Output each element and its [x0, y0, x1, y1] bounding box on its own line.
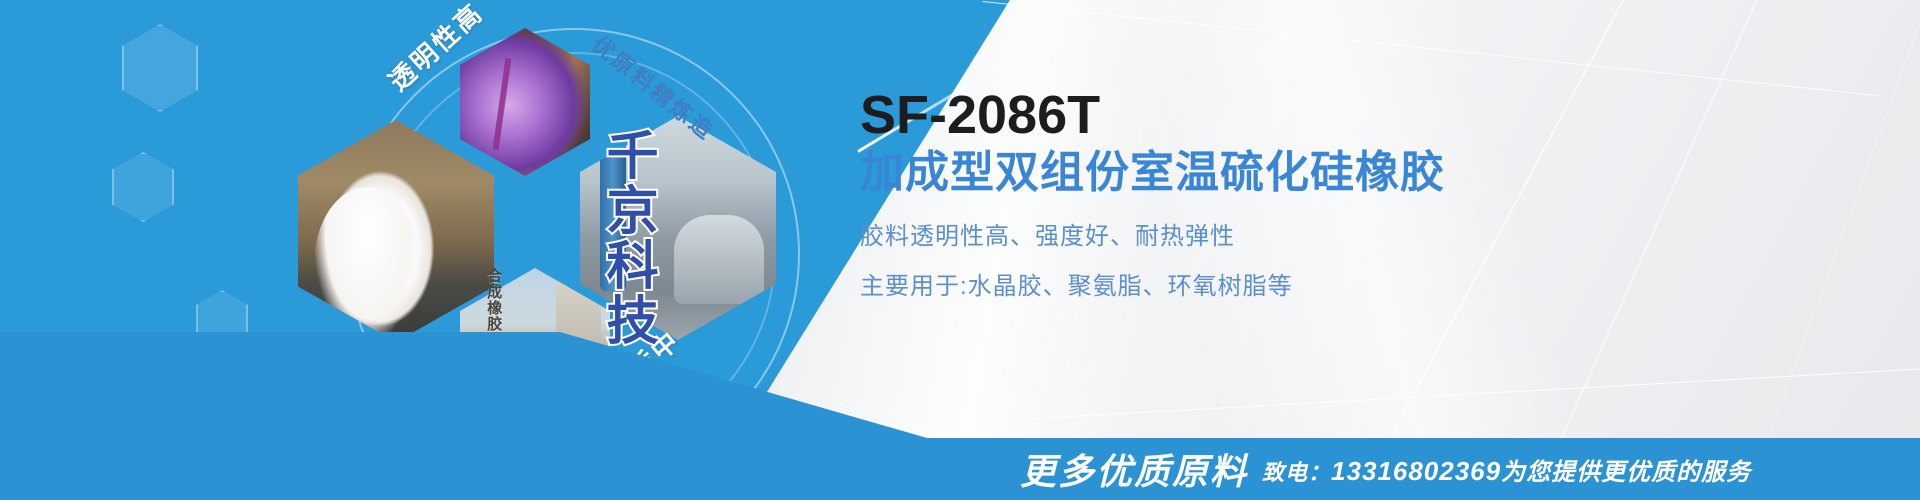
decorative-hexagon-icon [122, 24, 198, 112]
brand-name-vertical: 千京科技 [600, 128, 654, 348]
footer-headline: 更多优质原料 [1020, 443, 1248, 495]
promo-banner: 合成橡胶事业部 千京科技 透明性高 优原料精炼造 便于操作 粘度适中 SF-20… [0, 0, 1920, 500]
product-model-title: SF-2086T [860, 88, 1445, 142]
product-copy-block: SF-2086T 加成型双组份室温硫化硅橡胶 胶料透明性高、强度好、耐热弹性 主… [860, 88, 1445, 305]
footer-call-label: 致电： [1262, 460, 1331, 485]
decorative-hexagon-icon [112, 152, 174, 222]
footer-contact-bar: 更多优质原料 致电：13316802369为您提供更优质的服务 [0, 438, 1920, 500]
footer-contact-line: 致电：13316802369为您提供更优质的服务 [1262, 452, 1751, 487]
footer-phone-number[interactable]: 13316802369 [1331, 456, 1501, 486]
footer-tail-text: 为您提供更优质的服务 [1501, 459, 1751, 486]
product-description-2: 主要用于:水晶胶、聚氨脂、环氧树脂等 [860, 269, 1445, 305]
photo-purple-liquid [460, 28, 590, 176]
product-subtitle: 加成型双组份室温硫化硅橡胶 [860, 148, 1445, 199]
product-description-1: 胶料透明性高、强度好、耐热弹性 [860, 219, 1445, 255]
footer-content: 更多优质原料 致电：13316802369为您提供更优质的服务 [1020, 438, 1751, 500]
